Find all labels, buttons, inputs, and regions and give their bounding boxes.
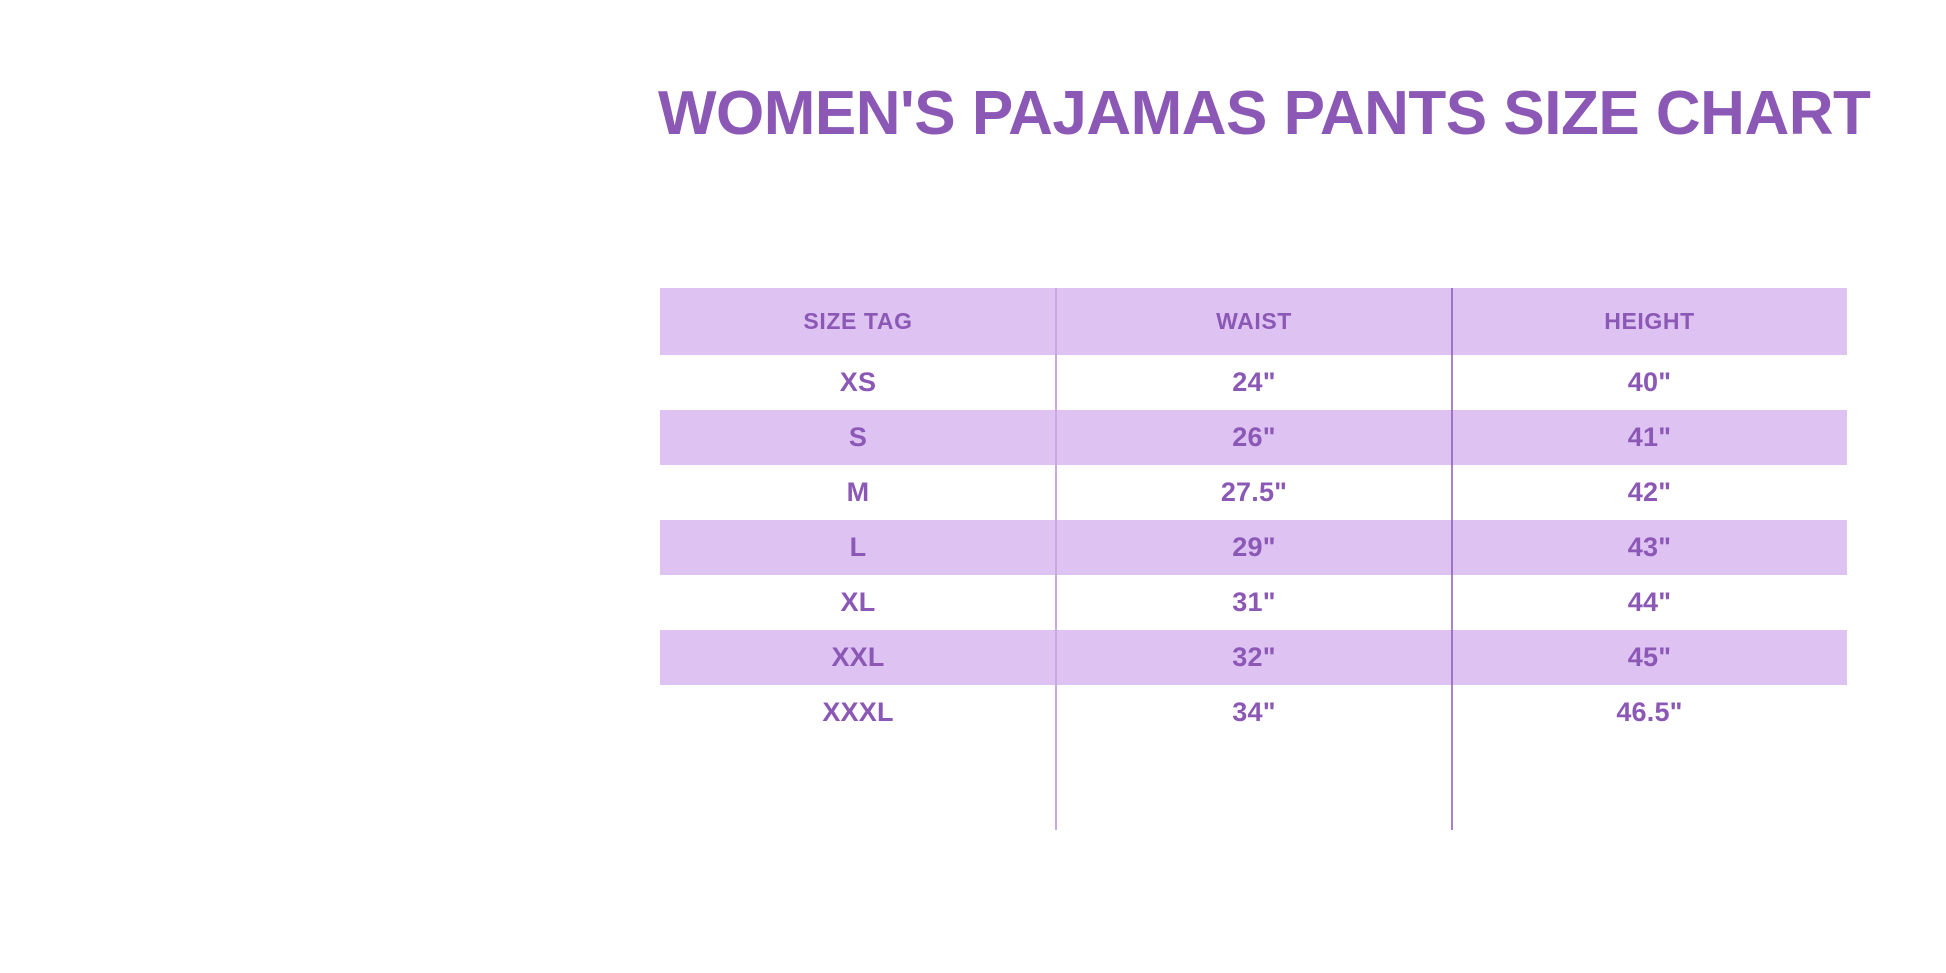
cell-waist: 32" xyxy=(1056,630,1452,685)
page-title: WOMEN'S PAJAMAS PANTS SIZE CHART xyxy=(658,78,1926,150)
cell-waist: 31" xyxy=(1056,575,1452,630)
table-row: XXL 32" 45" xyxy=(660,630,1847,685)
table-header: SIZE TAG WAIST HEIGHT xyxy=(660,288,1847,355)
cell-height: 42" xyxy=(1452,465,1847,520)
table-row: S 26" 41" xyxy=(660,410,1847,465)
column-header-height: HEIGHT xyxy=(1452,288,1847,355)
table-row: L 29" 43" xyxy=(660,520,1847,575)
cell-waist: 34" xyxy=(1056,685,1452,740)
table-row: XL 31" 44" xyxy=(660,575,1847,630)
table-row: M 27.5" 42" xyxy=(660,465,1847,520)
table-row: XS 24" 40" xyxy=(660,355,1847,410)
cell-size-tag: M xyxy=(660,465,1056,520)
size-chart-page: WOMEN'S PAJAMAS PANTS SIZE CHART SIZE TA… xyxy=(0,0,1946,973)
cell-height: 44" xyxy=(1452,575,1847,630)
cell-height: 45" xyxy=(1452,630,1847,685)
cell-size-tag: XXXL xyxy=(660,685,1056,740)
column-header-waist: WAIST xyxy=(1056,288,1452,355)
column-divider-first xyxy=(1055,288,1057,830)
cell-waist: 29" xyxy=(1056,520,1452,575)
cell-size-tag: S xyxy=(660,410,1056,465)
cell-height: 46.5" xyxy=(1452,685,1847,740)
column-header-size-tag: SIZE TAG xyxy=(660,288,1056,355)
table-header-row: SIZE TAG WAIST HEIGHT xyxy=(660,288,1847,355)
cell-waist: 27.5" xyxy=(1056,465,1452,520)
cell-size-tag: XL xyxy=(660,575,1056,630)
size-chart-table: SIZE TAG WAIST HEIGHT XS 24" 40" S 26" 4… xyxy=(660,288,1847,740)
cell-size-tag: XXL xyxy=(660,630,1056,685)
cell-size-tag: L xyxy=(660,520,1056,575)
cell-height: 43" xyxy=(1452,520,1847,575)
cell-height: 41" xyxy=(1452,410,1847,465)
table-body: XS 24" 40" S 26" 41" M 27.5" 42" L 29" xyxy=(660,355,1847,740)
cell-size-tag: XS xyxy=(660,355,1056,410)
cell-height: 40" xyxy=(1452,355,1847,410)
table-row: XXXL 34" 46.5" xyxy=(660,685,1847,740)
column-divider-second xyxy=(1451,288,1453,830)
cell-waist: 26" xyxy=(1056,410,1452,465)
size-chart-table-container: SIZE TAG WAIST HEIGHT XS 24" 40" S 26" 4… xyxy=(660,288,1847,740)
cell-waist: 24" xyxy=(1056,355,1452,410)
